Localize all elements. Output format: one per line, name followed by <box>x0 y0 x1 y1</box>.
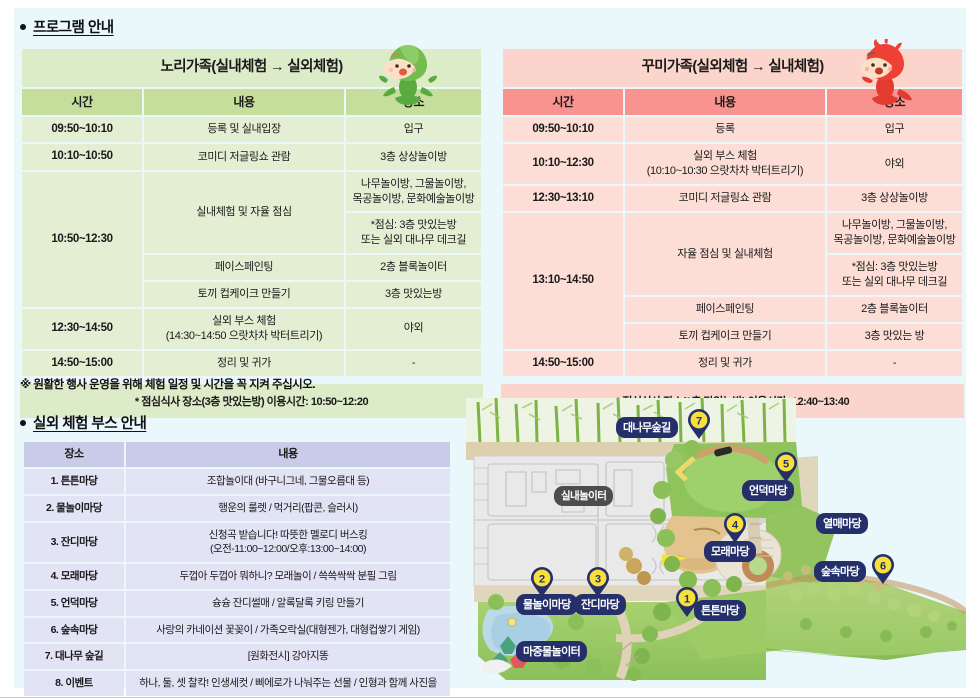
cell-place: 3층 맛있는방 <box>346 282 481 307</box>
cell-place: 7. 대나무 숲길 <box>24 644 124 669</box>
map-label-teunteun-madang: 튼튼마당 <box>694 600 746 621</box>
cell-content: 페이스페인팅 <box>625 297 825 322</box>
map-pin-number: 6 <box>880 560 886 572</box>
table-row: 09:50~10:10 등록 및 실내입장 입구 <box>22 117 481 143</box>
cell-time: 10:10~12:30 <box>503 144 623 184</box>
cell-content: 조합놀이대 (바구니그네, 그물오름대 등) <box>126 469 450 494</box>
cell-place: - <box>346 351 481 377</box>
table-row: 8. 이벤트 하나, 둘, 셋 찰칵! 인생세컷 / 삐에로가 나눠주는 선물 … <box>24 671 450 696</box>
table-row: 2. 물놀이마당 행운의 룰렛 / 먹거리(팝콘, 슬러시) <box>24 496 450 521</box>
booth-table: 장소 내용 1. 튼튼마당 조합놀이대 (바구니그네, 그물오름대 등) 2. … <box>22 440 452 698</box>
cell-place: 나무놀이방, 그물놀이방,목공놀이방, 문화예술놀이방 <box>346 172 481 212</box>
schedule-table-kkumi: 꾸미가족(실외체험 → 실내체험) 시간 내용 장소 09:50~10:10 등… <box>501 47 964 378</box>
cell-place: 야외 <box>827 144 962 184</box>
cell-content: 페이스페인팅 <box>144 255 344 280</box>
map-label-daenamu-supgil: 대나무숲길 <box>616 417 678 438</box>
cell-time: 09:50~10:10 <box>503 117 623 143</box>
table-row: 12:30~13:10 코미디 저글링쇼 관람 3층 상상놀이방 <box>503 186 962 212</box>
table-row: 7. 대나무 숲길 [원화전시] 강아지똥 <box>24 644 450 669</box>
cell-place: 2층 블록놀이터 <box>827 297 962 322</box>
cell-content: 코미디 저글링쇼 관람 <box>625 186 825 212</box>
cell-time: 14:50~15:00 <box>503 351 623 377</box>
table-row: 1. 튼튼마당 조합놀이대 (바구니그네, 그물오름대 등) <box>24 469 450 494</box>
map-label-eondeok-madang: 언덕마당 <box>742 480 794 501</box>
table-row: 14:50~15:00 정리 및 귀가 - <box>503 351 962 377</box>
cell-place: 2. 물놀이마당 <box>24 496 124 521</box>
cell-time: 09:50~10:10 <box>22 117 142 143</box>
table-row: 13:10~14:50 자율 점심 및 실내체험 나무놀이방, 그물놀이방,목공… <box>503 213 962 253</box>
cell-content: 실외 부스 체험(14:30~14:50 으랏차차 박터트리기) <box>144 309 344 349</box>
cell-place-note: *점심: 3층 맛있는방또는 실외 대나무 데크길 <box>346 213 481 253</box>
column-header-place: 장소 <box>827 89 962 115</box>
cell-content: 정리 및 귀가 <box>625 351 825 377</box>
cell-place: 1. 튼튼마당 <box>24 469 124 494</box>
cell-place-note: *점심: 3층 맛있는방또는 실외 대나무 데크길 <box>827 255 962 295</box>
map-label-morae-madang: 모래마당 <box>704 541 756 562</box>
cell-place: 3층 맛있는 방 <box>827 324 962 349</box>
bullet-dot-icon <box>20 24 26 30</box>
table-row: 10:10~12:30 실외 부스 체험(10:10~10:30 으랏차차 박터… <box>503 144 962 184</box>
cell-content: 등록 및 실내입장 <box>144 117 344 143</box>
cell-place: 4. 모래마당 <box>24 564 124 589</box>
cell-content: 행운의 룰렛 / 먹거리(팝콘, 슬러시) <box>126 496 450 521</box>
table-row: 5. 언덕마당 슝슝 잔디썰매 / 알록달록 키링 만들기 <box>24 591 450 616</box>
cell-time: 14:50~15:00 <box>22 351 142 377</box>
map-label-indoor-playground: 실내놀이터 <box>554 486 613 506</box>
column-header-content: 내용 <box>126 442 450 467</box>
cell-content: 두껍아 두껍아 뭐하니? 모래놀이 / 쓱쓱싹싹 분필 그림 <box>126 564 450 589</box>
map-pin-6[interactable]: 6 <box>872 555 894 585</box>
column-header-place: 장소 <box>24 442 124 467</box>
map-pin-number: 1 <box>684 593 690 605</box>
column-header-time: 시간 <box>22 89 142 115</box>
schedule-title: 노리가족(실내체험 → 실외체험) <box>22 49 481 87</box>
cell-content: 실내체험 및 자율 점심 <box>144 172 344 253</box>
bullet-dot-icon <box>20 420 26 426</box>
column-header-place: 장소 <box>346 89 481 115</box>
cell-place: 3. 잔디마당 <box>24 523 124 562</box>
outdoor-booth-heading-label: 실외 체험 부스 안내 <box>33 412 146 433</box>
venue-map: 7 대나무숲길 5 언덕마당 4 모래마당 6 숲속마당 2 물놀이 <box>466 398 966 686</box>
cell-place: 2층 블록놀이터 <box>346 255 481 280</box>
map-pin-number: 5 <box>783 458 789 470</box>
schedule-table-nori: 노리가족(실내체험 → 실외체험) 시간 내용 장소 09:50~10:10 등… <box>20 47 483 378</box>
table-row: 3. 잔디마당 신청곡 받습니다! 따뜻한 멜로디 버스킹(오전-11:00~1… <box>24 523 450 562</box>
cell-time: 12:30~13:10 <box>503 186 623 212</box>
cell-time: 13:10~14:50 <box>503 213 623 348</box>
cell-place: 3층 상상놀이방 <box>827 186 962 212</box>
cell-place: 나무놀이방, 그물놀이방,목공놀이방, 문화예술놀이방 <box>827 213 962 253</box>
map-pin-5[interactable]: 5 <box>775 453 797 483</box>
cell-time: 10:10~10:50 <box>22 144 142 170</box>
program-guide-heading: 프로그램 안내 <box>20 16 964 37</box>
map-pin-number: 3 <box>595 573 601 585</box>
schedule-card-nori: 노리가족(실내체험 → 실외체험) 시간 내용 장소 09:50~10:10 등… <box>20 47 483 418</box>
program-guide-section: 프로그램 안내 <box>20 16 964 418</box>
map-pin-4[interactable]: 4 <box>724 514 746 544</box>
map-label-majungmul-nori-teo: 마중물놀이터 <box>516 641 587 662</box>
program-guide-heading-label: 프로그램 안내 <box>33 16 114 37</box>
cell-place: 8. 이벤트 <box>24 671 124 696</box>
cell-time: 10:50~12:30 <box>22 172 142 307</box>
map-label-supsok-madang: 숲속마당 <box>814 561 866 582</box>
cell-place: 6. 숲속마당 <box>24 618 124 643</box>
cell-content: 실외 부스 체험(10:10~10:30 으랏차차 박터트리기) <box>625 144 825 184</box>
cell-content: 토끼 컵케이크 만들기 <box>144 282 344 307</box>
map-label-jandi-madang: 잔디마당 <box>574 594 626 615</box>
cell-content: 토끼 컵케이크 만들기 <box>625 324 825 349</box>
cell-content: 코미디 저글링쇼 관람 <box>144 144 344 170</box>
table-row: 10:50~12:30 실내체험 및 자율 점심 나무놀이방, 그물놀이방,목공… <box>22 172 481 212</box>
cell-content: 사랑의 카네이션 꽃꽂이 / 가족오락실(대형젠가, 대형컵쌓기 게임) <box>126 618 450 643</box>
table-row: 09:50~10:10 등록 입구 <box>503 117 962 143</box>
column-header-content: 내용 <box>144 89 344 115</box>
schedule-card-kkumi: 꾸미가족(실외체험 → 실내체험) 시간 내용 장소 09:50~10:10 등… <box>501 47 964 418</box>
table-row: 12:30~14:50 실외 부스 체험(14:30~14:50 으랏차차 박터… <box>22 309 481 349</box>
cell-content: 등록 <box>625 117 825 143</box>
outdoor-booth-heading: 실외 체험 부스 안내 <box>20 412 146 433</box>
cell-place: 3층 상상놀이방 <box>346 144 481 170</box>
cell-content: 정리 및 귀가 <box>144 351 344 377</box>
caution-text: ※ 원활한 행사 운영을 위해 체험 일정 및 시간을 꼭 지켜 주십시오. <box>20 376 315 392</box>
cell-place: - <box>827 351 962 377</box>
schedule-title: 꾸미가족(실외체험 → 실내체험) <box>503 49 962 87</box>
cell-time: 12:30~14:50 <box>22 309 142 349</box>
cell-place: 입구 <box>827 117 962 143</box>
cell-content: [원화전시] 강아지똥 <box>126 644 450 669</box>
map-label-mulnori-madang: 물놀이마당 <box>516 594 578 615</box>
map-pin-number: 2 <box>539 573 545 585</box>
cell-content: 슝슝 잔디썰매 / 알록달록 키링 만들기 <box>126 591 450 616</box>
cell-content: 신청곡 받습니다! 따뜻한 멜로디 버스킹(오전-11:00~12:00/오후:… <box>126 523 450 562</box>
table-row: 4. 모래마당 두껍아 두껍아 뭐하니? 모래놀이 / 쓱쓱싹싹 분필 그림 <box>24 564 450 589</box>
map-pin-7[interactable]: 7 <box>688 410 710 440</box>
cell-place: 야외 <box>346 309 481 349</box>
table-row: 14:50~15:00 정리 및 귀가 - <box>22 351 481 377</box>
map-label-yeolmae-madang: 열매마당 <box>816 513 868 534</box>
column-header-time: 시간 <box>503 89 623 115</box>
cell-place: 5. 언덕마당 <box>24 591 124 616</box>
table-row: 6. 숲속마당 사랑의 카네이션 꽃꽂이 / 가족오락실(대형젠가, 대형컵쌓기… <box>24 618 450 643</box>
map-pin-number: 4 <box>732 519 739 531</box>
map-pin-number: 7 <box>696 415 702 427</box>
table-row: 10:10~10:50 코미디 저글링쇼 관람 3층 상상놀이방 <box>22 144 481 170</box>
cell-content: 하나, 둘, 셋 찰칵! 인생세컷 / 삐에로가 나눠주는 선물 / 인형과 함… <box>126 671 450 696</box>
column-header-content: 내용 <box>625 89 825 115</box>
cell-place: 입구 <box>346 117 481 143</box>
cell-content: 자율 점심 및 실내체험 <box>625 213 825 294</box>
table-header-row: 장소 내용 <box>24 442 450 467</box>
